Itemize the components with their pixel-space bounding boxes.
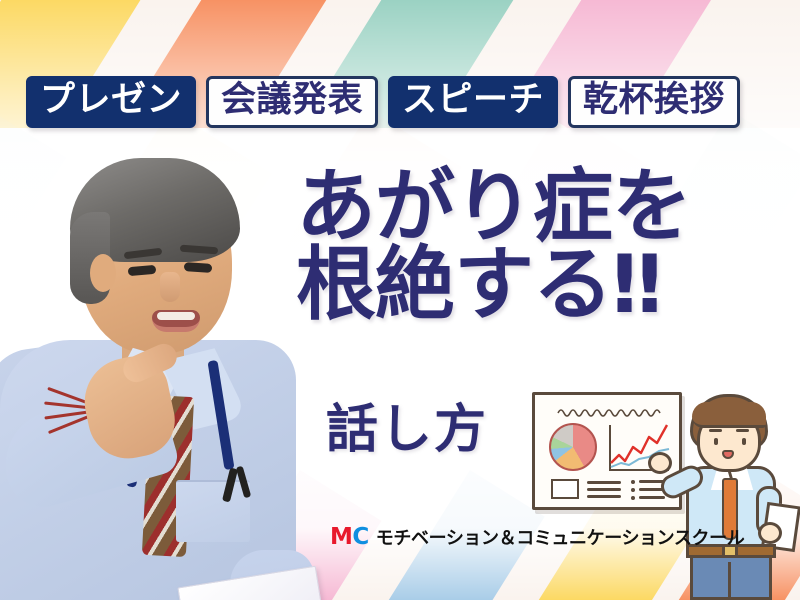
category-tag-row: プレゼン会議発表スピーチ乾杯挨拶 xyxy=(26,76,740,128)
headline-line-1: あがり症を xyxy=(296,168,691,246)
text-line xyxy=(587,495,621,498)
presenter-mouth xyxy=(152,310,200,332)
logo-mark: MC xyxy=(330,524,369,550)
text-line xyxy=(639,496,665,499)
presenter-eye-right xyxy=(184,262,213,273)
cartoon-hair-fringe xyxy=(692,402,766,428)
cartoon-presenter-illustration xyxy=(664,394,796,600)
presenter-shirt-pocket xyxy=(176,480,250,542)
text-line xyxy=(587,488,621,491)
bullet-dot-icon xyxy=(631,480,635,484)
category-tag-4[interactable]: 乾杯挨拶 xyxy=(568,76,740,128)
logo-text: モチベーション＆コミュニケーションスクール xyxy=(376,524,745,550)
cartoon-legs xyxy=(690,556,772,600)
cartoon-left-hand xyxy=(648,452,672,474)
presenter-papers xyxy=(174,558,326,600)
logo-mark-m: M xyxy=(330,524,352,550)
legend-box-icon xyxy=(551,479,579,499)
cartoon-right-hand xyxy=(758,522,782,544)
presenter-photo: 塩井 xyxy=(0,150,314,600)
category-tag-3[interactable]: スピーチ xyxy=(388,76,558,128)
category-tag-label: 会議発表 xyxy=(221,83,363,118)
whiteboard-illustration xyxy=(532,392,682,510)
presenter-nose xyxy=(160,272,180,302)
headline-line-2: 根絶する‼ xyxy=(296,246,691,324)
cartoon-eye-left xyxy=(714,438,718,445)
school-logo[interactable]: MC モチベーション＆コミュニケーションスクール xyxy=(330,524,744,550)
banner-canvas: 塩井 xyxy=(0,0,800,600)
category-tag-1[interactable]: プレゼン xyxy=(26,76,196,128)
cartoon-brow-right xyxy=(736,429,749,432)
bullet-dot-icon xyxy=(631,488,635,492)
squiggle-text-icon xyxy=(557,407,665,417)
category-tag-label: 乾杯挨拶 xyxy=(583,83,725,118)
pie-chart xyxy=(549,423,597,471)
presenter-ear xyxy=(90,254,116,292)
category-tag-label: プレゼン xyxy=(40,83,182,118)
text-line xyxy=(587,481,621,484)
logo-mark-c: C xyxy=(352,524,368,550)
headline: あがり症を 根絶する‼ xyxy=(296,168,691,325)
subheadline: 話し方 xyxy=(326,404,488,456)
category-tag-label: スピーチ xyxy=(402,83,544,118)
cartoon-eye-right xyxy=(742,438,746,445)
cartoon-brow-left xyxy=(709,429,722,432)
bullet-dot-icon xyxy=(631,496,635,500)
category-tag-2[interactable]: 会議発表 xyxy=(206,76,378,128)
cartoon-leg-split xyxy=(728,562,731,600)
